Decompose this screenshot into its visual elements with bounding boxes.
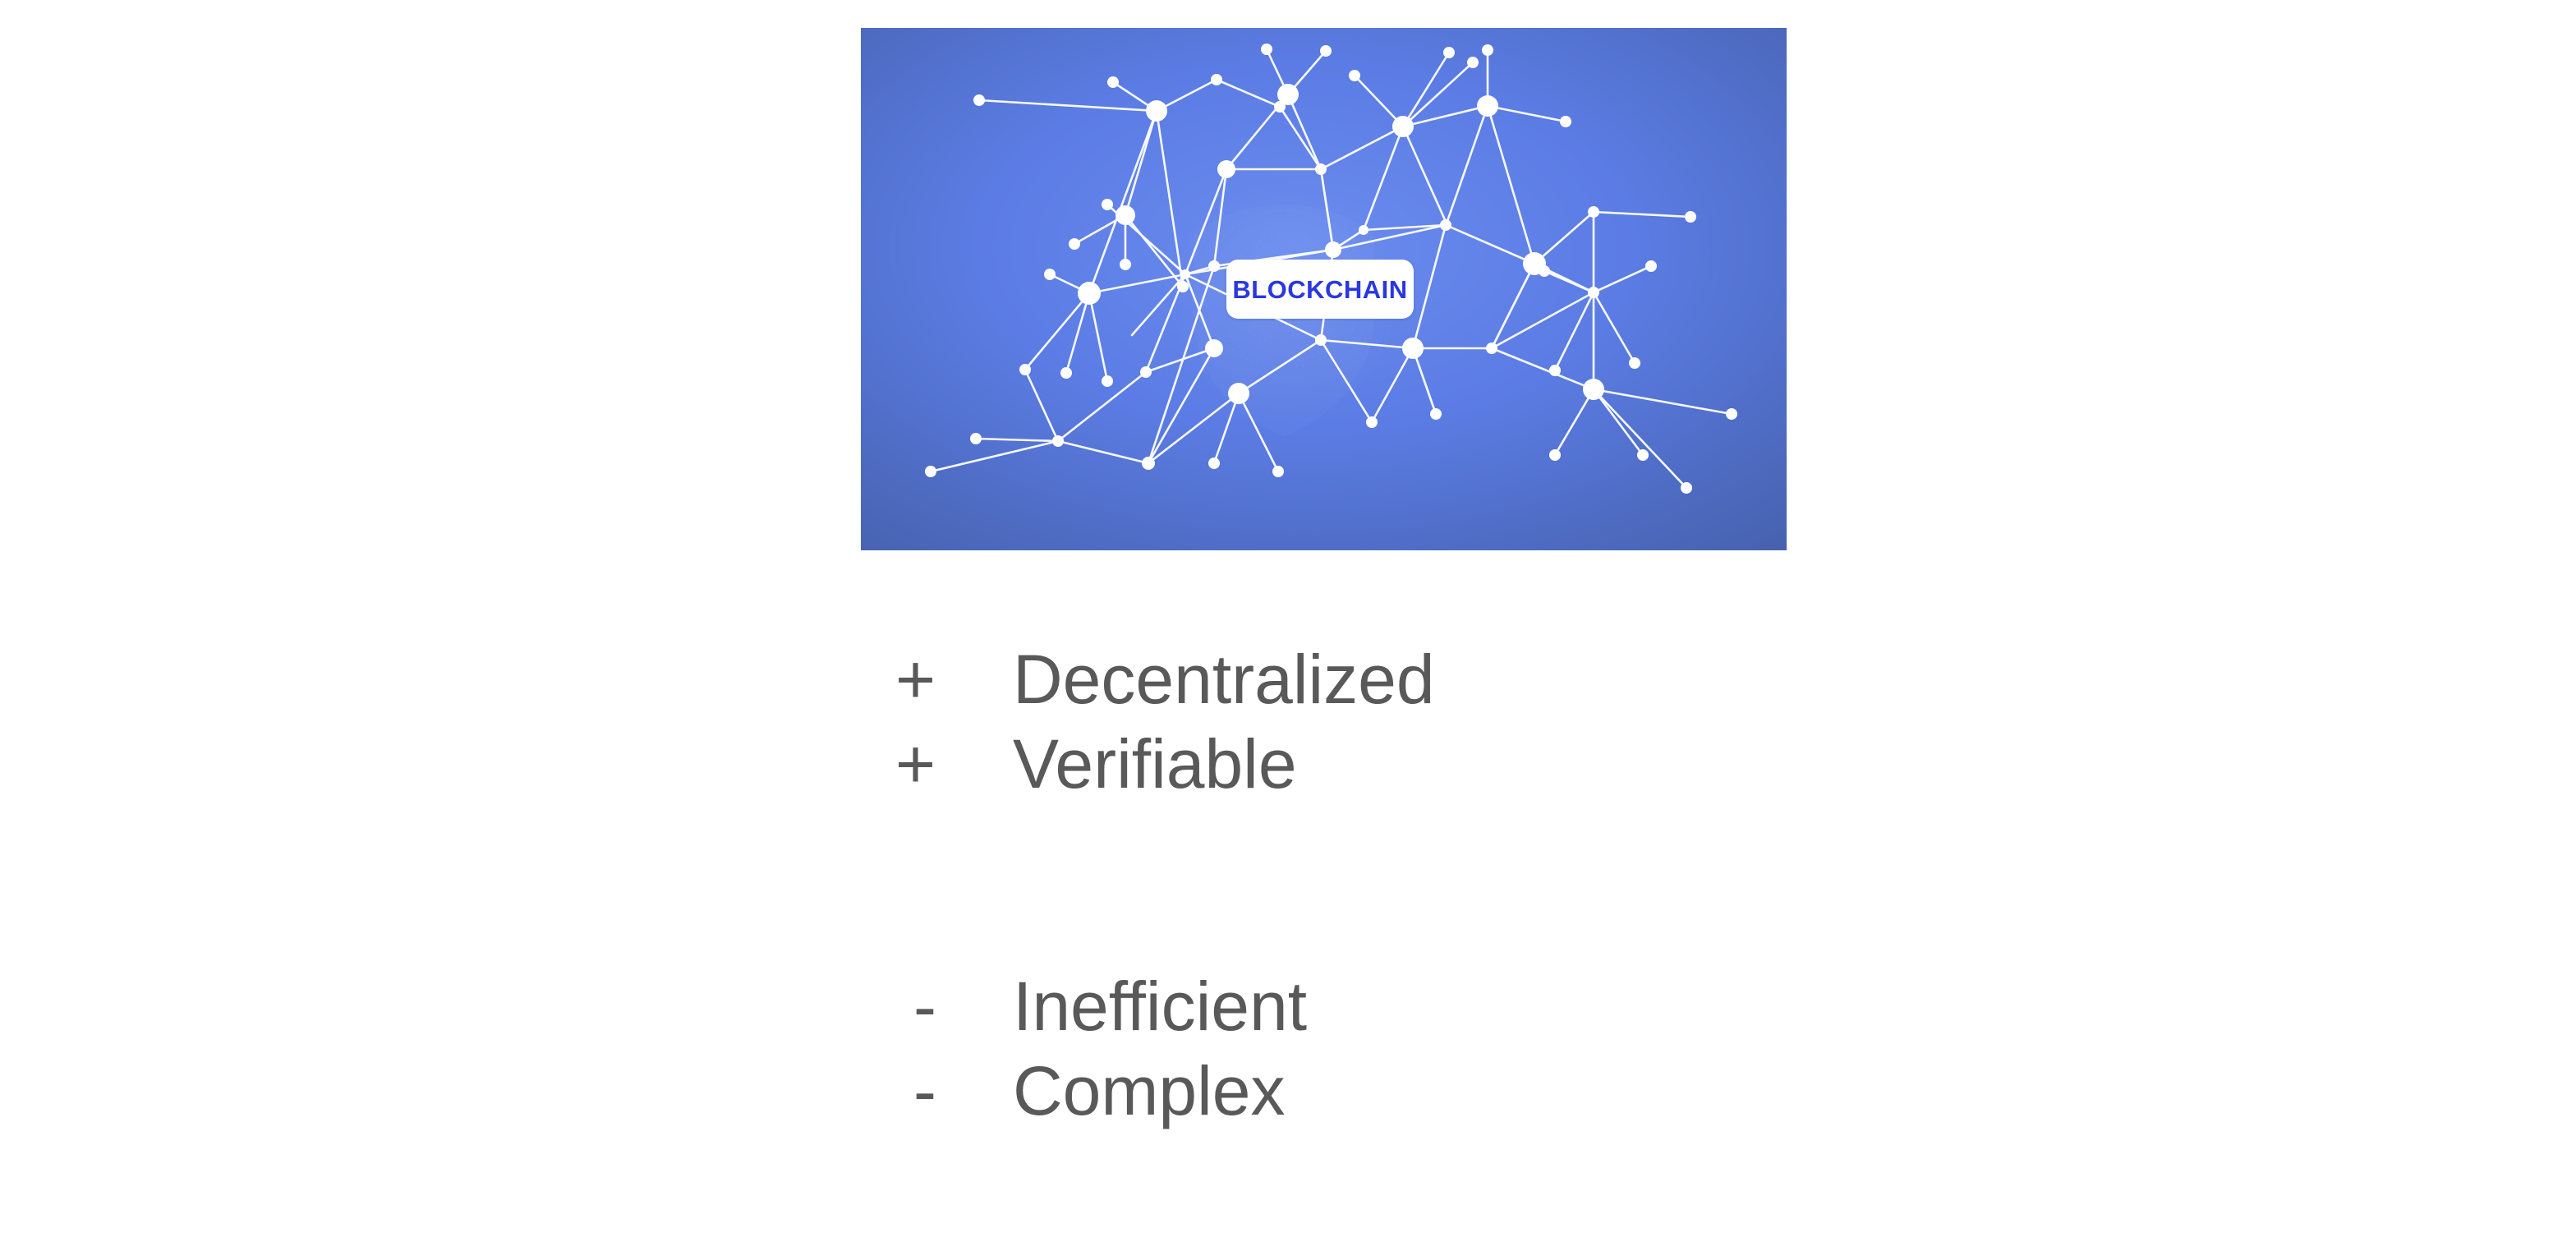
pros-item-label: Decentralized: [1013, 637, 1435, 722]
list-item: - Complex: [895, 1049, 1307, 1134]
blockchain-label-text: BLOCKCHAIN: [1232, 277, 1407, 302]
cons-list: - Inefficient - Complex: [895, 964, 1307, 1134]
list-item: + Verifiable: [895, 722, 1435, 807]
pros-list: + Decentralized + Verifiable: [895, 637, 1435, 807]
cons-item-label: Inefficient: [1013, 964, 1307, 1049]
list-item: - Inefficient: [895, 964, 1307, 1049]
pros-item-label: Verifiable: [1013, 722, 1297, 807]
list-item: + Decentralized: [895, 637, 1435, 722]
plus-marker-icon: +: [895, 637, 1013, 722]
minus-marker-icon: -: [895, 1049, 1013, 1134]
blockchain-label-chip: BLOCKCHAIN: [1226, 260, 1414, 319]
cons-item-label: Complex: [1013, 1049, 1285, 1134]
plus-marker-icon: +: [895, 722, 1013, 807]
minus-marker-icon: -: [895, 964, 1013, 1049]
